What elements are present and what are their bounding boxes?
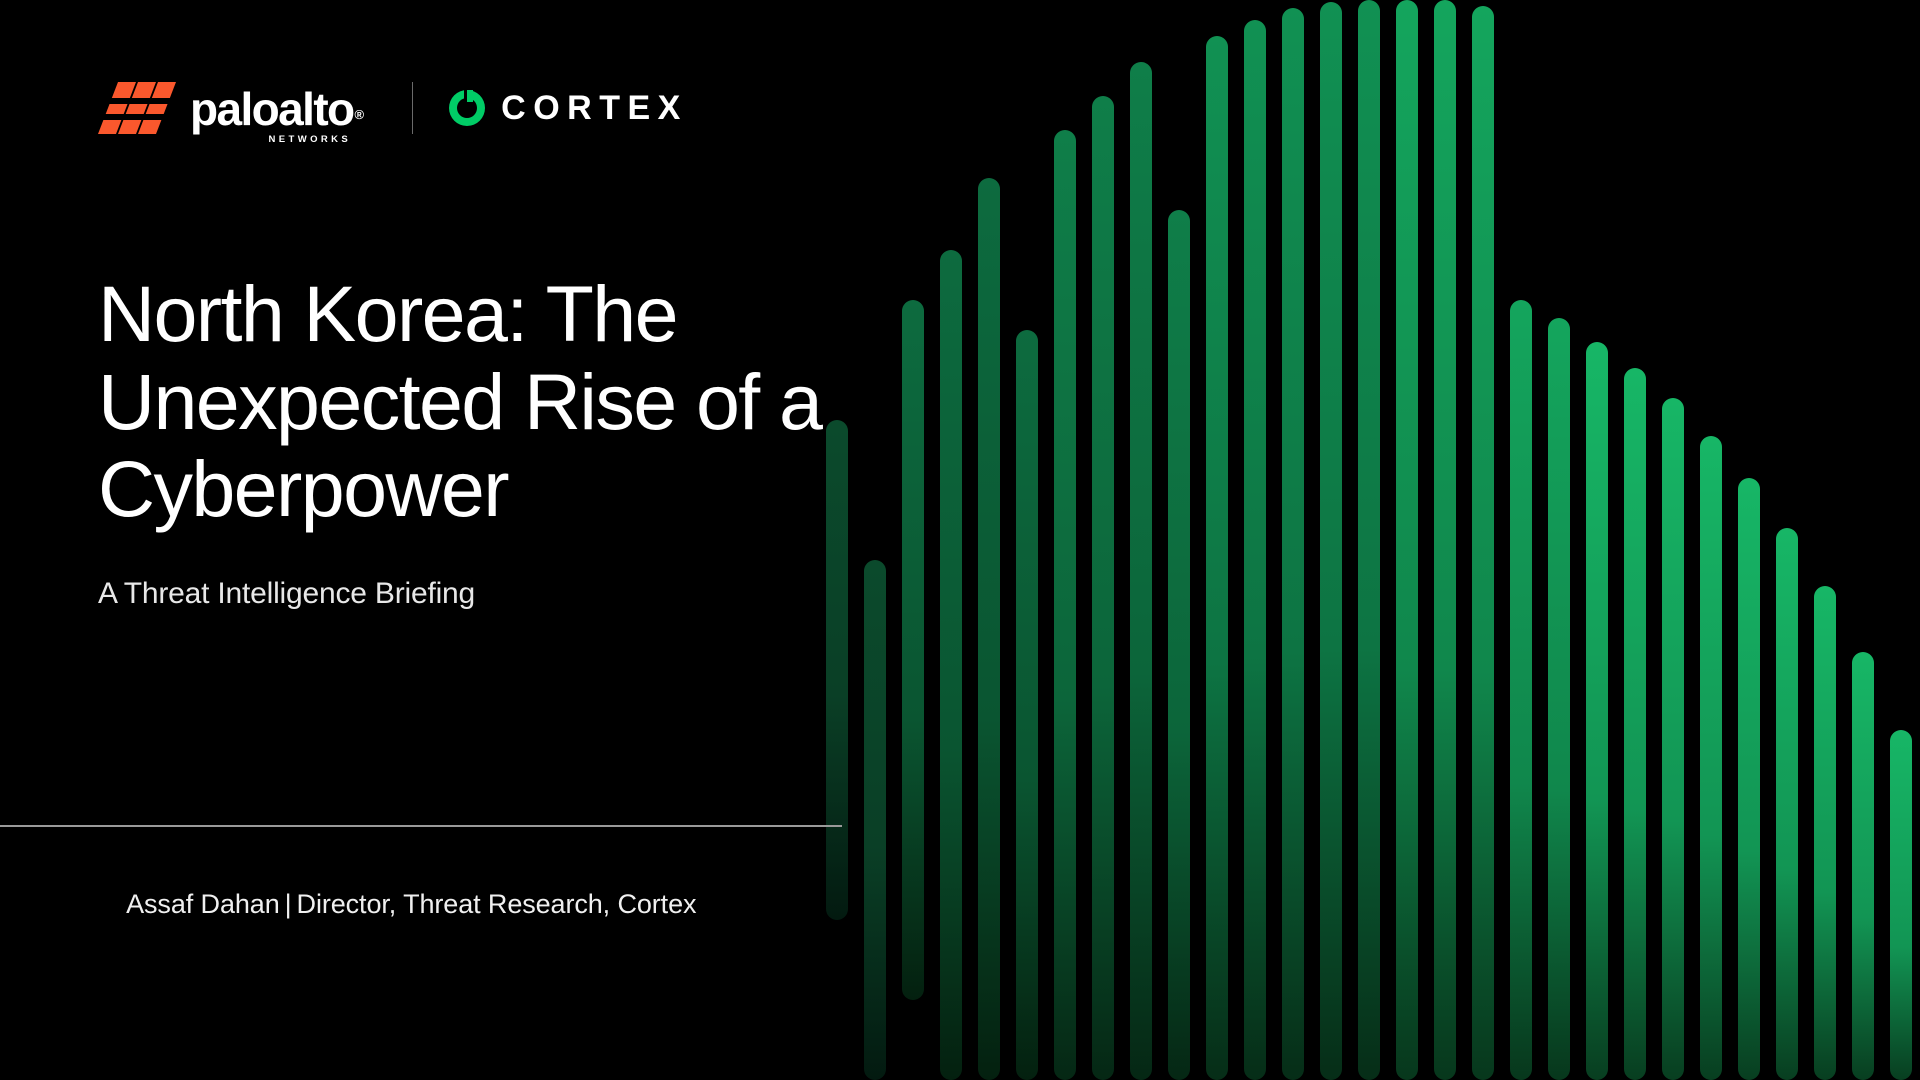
title-slide: paloalto® NETWORKS CORTEX North Korea: T… [0,0,1920,1080]
title-block: North Korea: The Unexpected Rise of a Cy… [98,270,1118,611]
paloalto-chevrons-mark [98,82,176,134]
presenter-role: Director, Threat Research, Cortex [297,889,697,919]
logo-divider [412,82,413,134]
cortex-logo: CORTEX [449,88,688,128]
page-subtitle: A Threat Intelligence Briefing [98,577,1118,611]
paloalto-networks-logo: paloalto® NETWORKS [98,82,364,134]
paloalto-wordmark: paloalto [190,86,354,132]
cortex-wordmark: CORTEX [501,91,688,125]
byline-separator: | [280,889,297,919]
footer-divider [0,825,842,827]
presenter-byline: Assaf Dahan|Director, Threat Research, C… [98,858,696,951]
cortex-ring-mark [449,88,485,128]
page-title: North Korea: The Unexpected Rise of a Cy… [98,270,1118,533]
paloalto-registered-mark: ® [355,107,365,122]
paloalto-tagline: NETWORKS [269,134,352,145]
presenter-name: Assaf Dahan [126,889,280,919]
brand-logo-lockup: paloalto® NETWORKS CORTEX [98,78,688,138]
